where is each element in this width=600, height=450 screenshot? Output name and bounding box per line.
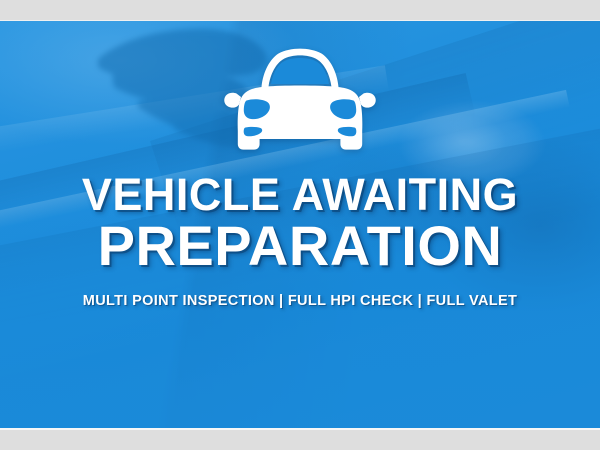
- car-front-icon: [214, 43, 386, 159]
- headline-line-2: PREPARATION: [82, 219, 518, 274]
- headline: VEHICLE AWAITING PREPARATION: [82, 173, 518, 274]
- vehicle-placeholder-image: VEHICLE AWAITING PREPARATION MULTI POINT…: [0, 0, 600, 450]
- banner-content: VEHICLE AWAITING PREPARATION MULTI POINT…: [0, 21, 600, 428]
- services-subtitle: MULTI POINT INSPECTION | FULL HPI CHECK …: [83, 293, 517, 309]
- banner-panel: VEHICLE AWAITING PREPARATION MULTI POINT…: [0, 21, 600, 428]
- headline-line-1: VEHICLE AWAITING: [82, 173, 518, 217]
- letterbox-band-bottom: [0, 428, 600, 450]
- letterbox-band-top: [0, 0, 600, 21]
